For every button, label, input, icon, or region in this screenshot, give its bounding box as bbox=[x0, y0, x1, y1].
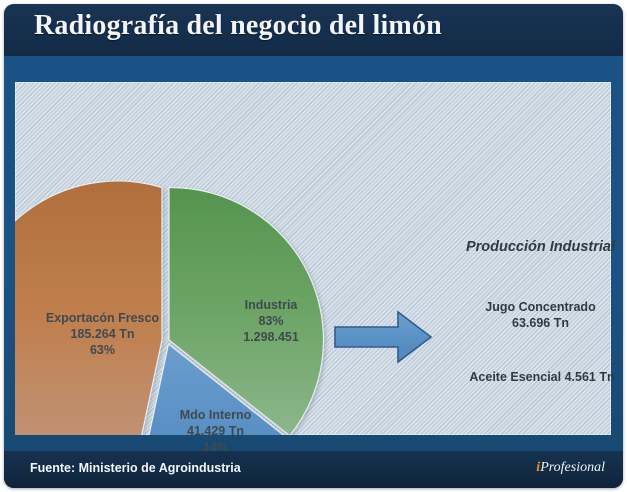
arrow-right-shape bbox=[332, 308, 434, 366]
production-title: Producción Industrial bbox=[458, 239, 623, 255]
production-item-jugo-concentrado: Jugo Concentrado 63.696 Tn bbox=[458, 299, 623, 331]
production-item-amount: 63.696 Tn bbox=[458, 315, 623, 331]
footer-source-label: Fuente: Ministerio de Agroindustria bbox=[30, 461, 241, 475]
pie-chart-svg bbox=[15, 82, 345, 435]
production-item-name: Jugo Concentrado bbox=[458, 299, 623, 315]
arrow-right-icon bbox=[332, 308, 434, 366]
title-bar: Radiografía del negocio del limón bbox=[4, 4, 623, 56]
iprofesional-logo: iProfesional bbox=[536, 460, 605, 476]
infographic-root: Radiografía del negocio del limón bbox=[0, 0, 627, 492]
footer-bar: Fuente: Ministerio de Agroindustria iPro… bbox=[4, 451, 623, 488]
content-panel: Exportacón Fresco 185.264 Tn 63% Industr… bbox=[15, 82, 611, 435]
production-item-aceite-esencial: Aceite Esencial 4.561 Tn bbox=[447, 370, 627, 384]
pie-chart: Exportacón Fresco 185.264 Tn 63% Industr… bbox=[15, 82, 345, 435]
pie-slice-exportacon-fresco bbox=[15, 181, 162, 435]
logo-wordmark: Profesional bbox=[540, 460, 605, 475]
page-title: Radiografía del negocio del limón bbox=[34, 10, 442, 42]
